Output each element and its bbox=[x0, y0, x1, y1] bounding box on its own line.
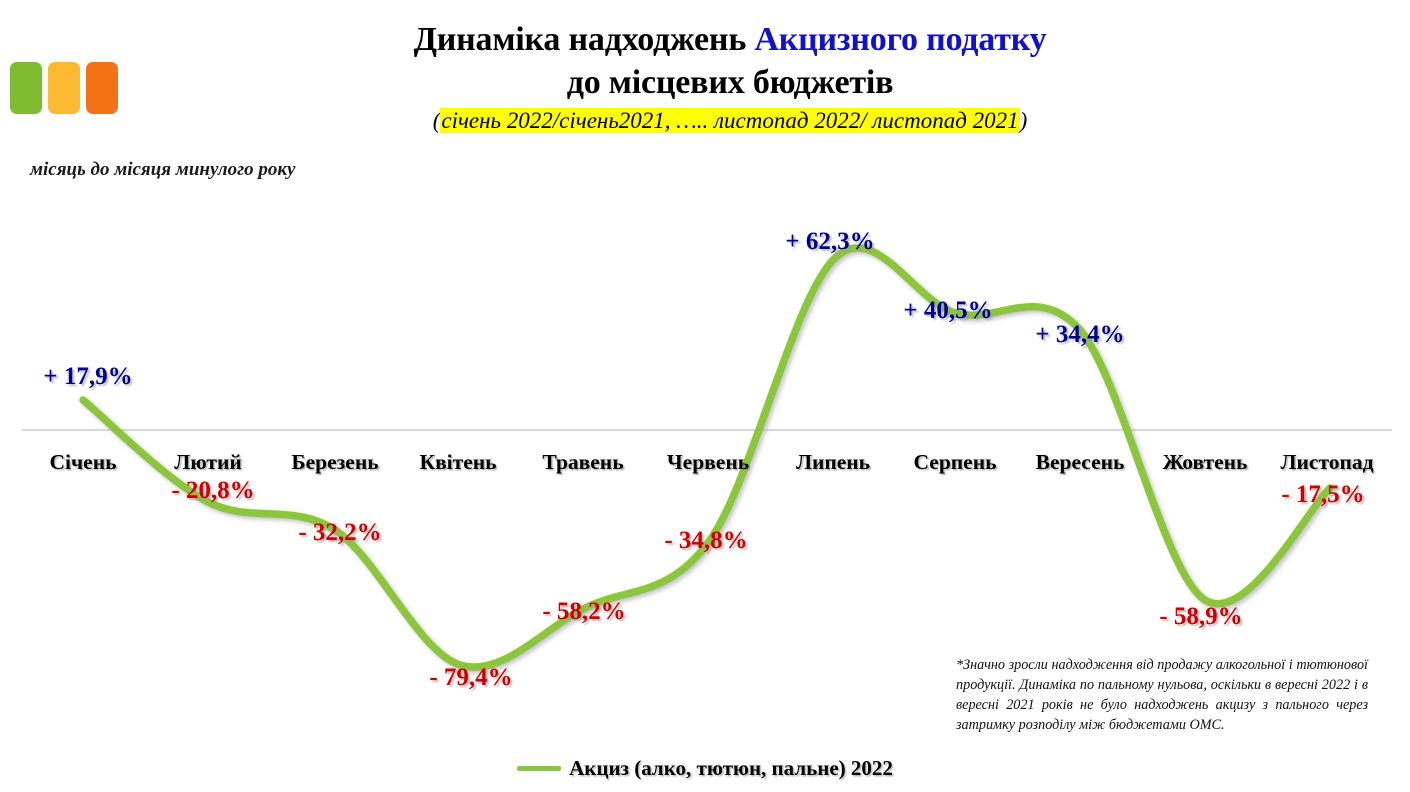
footnote-text: *Значно зросли надходження від продажу а… bbox=[956, 655, 1368, 736]
month-label-7: Липень bbox=[796, 450, 870, 475]
value-label-березень: - 32,2% bbox=[298, 519, 381, 547]
month-label-1: Січень bbox=[50, 450, 117, 475]
value-label-серпень: + 40,5% bbox=[903, 297, 992, 325]
value-label-січень: + 17,9% bbox=[43, 363, 132, 391]
value-label-листопад: - 17,5% bbox=[1281, 481, 1364, 509]
value-label-вересень: + 34,4% bbox=[1035, 321, 1124, 349]
month-label-3: Березень bbox=[291, 450, 378, 475]
value-label-липень: + 62,3% bbox=[785, 228, 874, 256]
month-label-6: Червень bbox=[667, 450, 749, 475]
month-label-10: Жовтень bbox=[1163, 450, 1248, 475]
month-label-5: Травень bbox=[542, 450, 623, 475]
value-label-лютий: - 20,8% bbox=[171, 477, 254, 505]
value-label-травень: - 58,2% bbox=[542, 598, 625, 626]
value-label-квітень: - 79,4% bbox=[429, 664, 512, 692]
month-label-4: Квітень bbox=[419, 450, 496, 475]
month-label-9: Вересень bbox=[1036, 450, 1125, 475]
legend-color-swatch bbox=[517, 766, 561, 771]
value-label-червень: - 34,8% bbox=[664, 527, 747, 555]
value-label-жовтень: - 58,9% bbox=[1159, 603, 1242, 631]
month-label-11: Листопад bbox=[1281, 450, 1374, 475]
month-label-8: Серпень bbox=[914, 450, 997, 475]
month-label-2: Лютий bbox=[174, 450, 242, 475]
chart-legend[interactable]: Акциз (алко, тютюн, пальне) 2022 bbox=[0, 756, 1410, 781]
legend-series-label: Акциз (алко, тютюн, пальне) 2022 bbox=[569, 756, 893, 781]
